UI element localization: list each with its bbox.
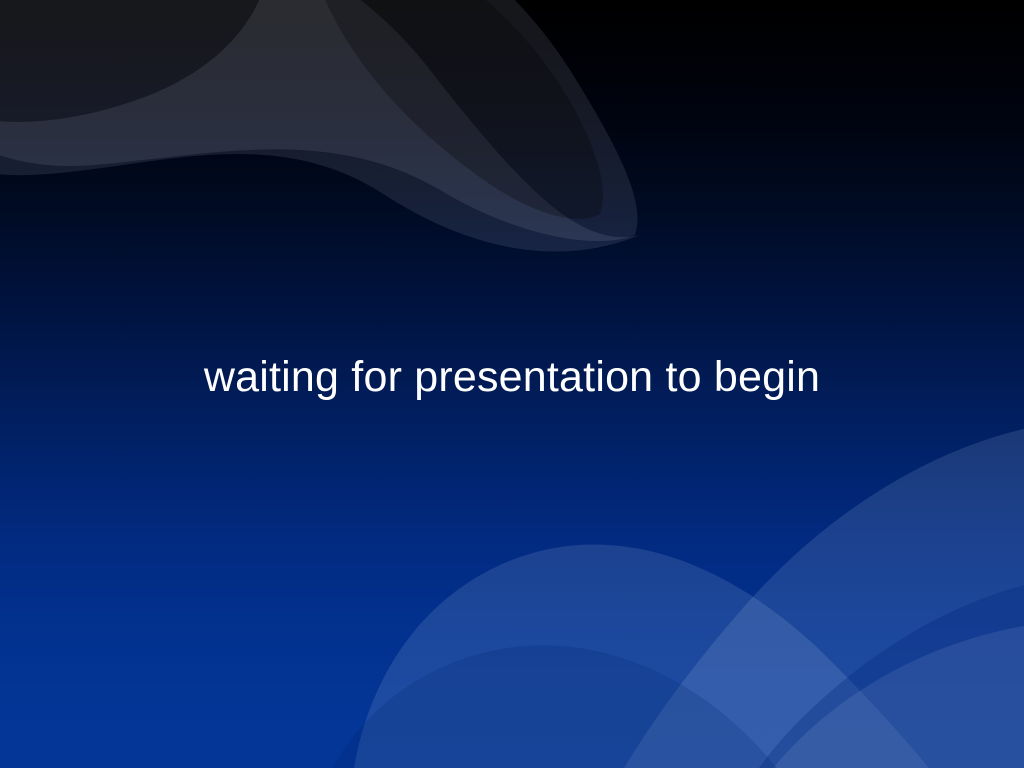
wing-shape-top-a (0, 0, 640, 252)
wing-shape-top-b (0, 0, 637, 241)
wing-shape-bottom-b (560, 420, 1024, 768)
wing-shape-top-notch (300, 0, 603, 219)
wing-shape-bottom-gap (695, 575, 1024, 768)
slide-title-block: waiting for presentation to begin (0, 352, 1024, 402)
presentation-slide: waiting for presentation to begin (0, 0, 1024, 768)
wing-shape-bottom-shadow (300, 645, 860, 768)
wing-shape-bottom-c (705, 620, 1024, 768)
wing-shape-bottom-a (349, 544, 1024, 768)
page-title: waiting for presentation to begin (204, 352, 820, 402)
